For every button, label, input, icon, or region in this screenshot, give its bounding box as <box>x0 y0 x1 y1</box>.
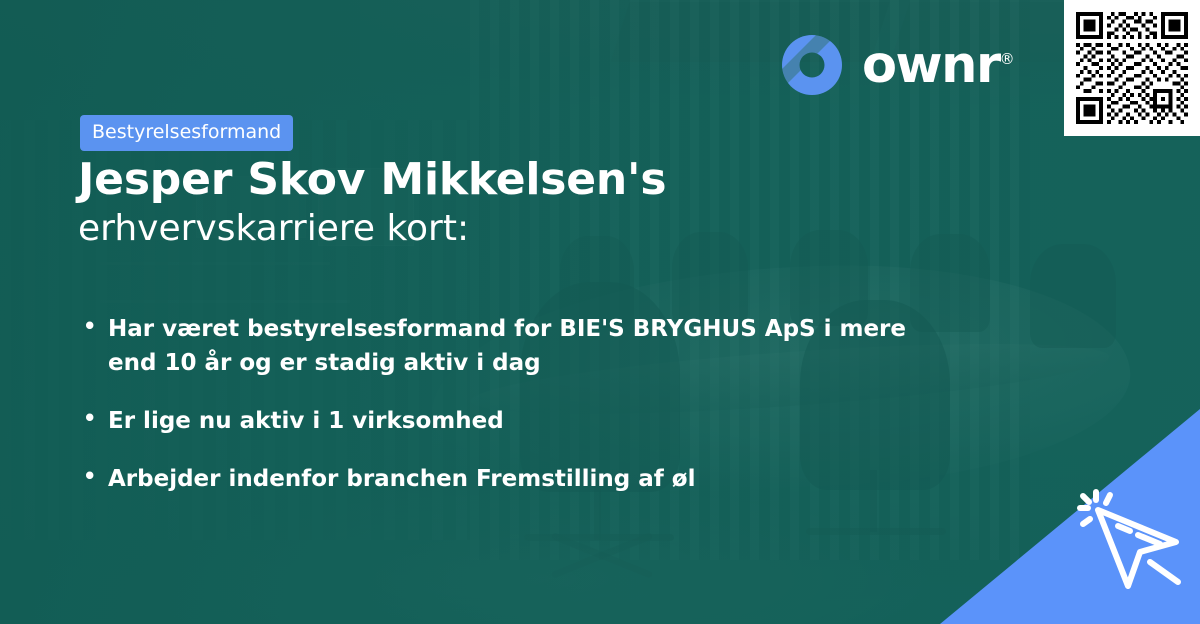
qr-code[interactable] <box>1064 0 1200 136</box>
role-badge: Bestyrelsesformand <box>80 115 293 151</box>
list-item: Har været bestyrelsesformand for BIE'S B… <box>80 312 910 380</box>
career-facts-list: Har været bestyrelsesformand for BIE'S B… <box>80 312 910 520</box>
ownr-circle-logo-icon <box>780 33 844 97</box>
qr-code-svg <box>1076 12 1188 124</box>
list-item: Er lige nu aktiv i 1 virksomhed <box>80 404 910 438</box>
registered-trademark-symbol: ® <box>1000 50 1015 68</box>
corner-accent <box>940 409 1200 624</box>
page-title: Jesper Skov Mikkelsen's erhvervskarriere… <box>78 155 978 252</box>
ownr-profile-card: ownr® Bestyrelsesformand Jesper Skov Mik… <box>0 0 1200 624</box>
brand-logo[interactable]: ownr® <box>780 33 1015 97</box>
brand-name: ownr® <box>862 40 1015 91</box>
headline-name: Jesper Skov Mikkelsen's <box>78 155 978 204</box>
brand-name-text: ownr <box>862 36 1000 95</box>
headline-subtitle: erhvervskarriere kort: <box>78 206 978 252</box>
list-item: Arbejder indenfor branchen Fremstilling … <box>80 462 910 496</box>
click-cursor-icon <box>1072 486 1192 596</box>
